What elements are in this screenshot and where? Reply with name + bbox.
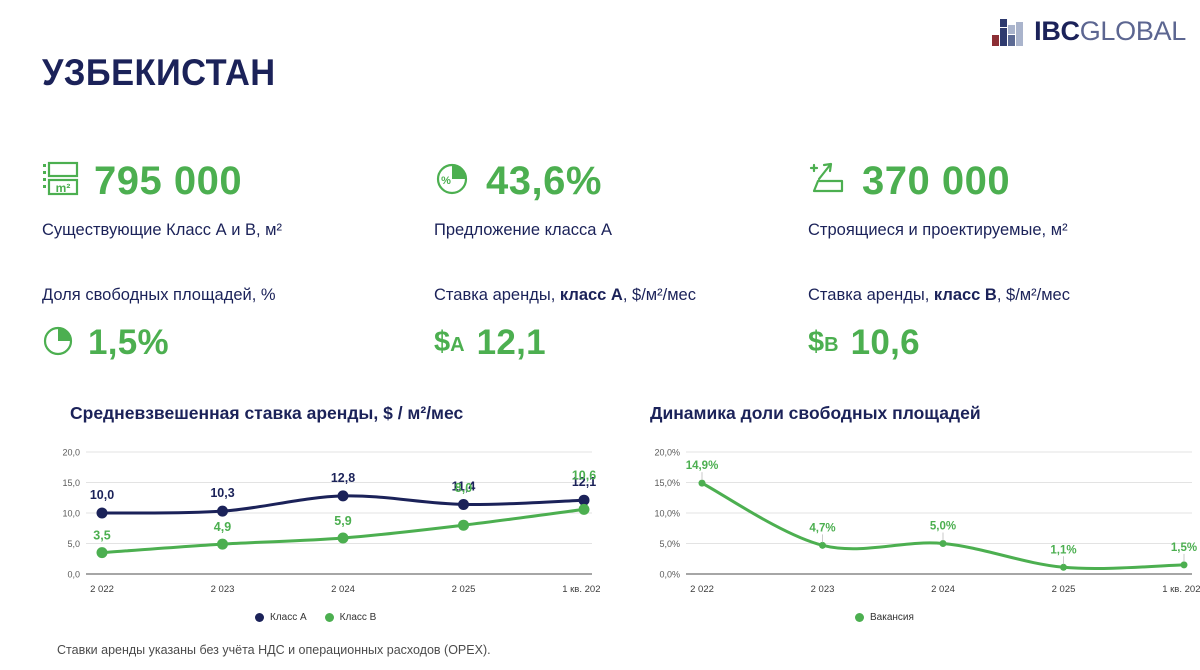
x-axis-tick: 2 022 bbox=[90, 584, 114, 595]
construction-growth-icon bbox=[808, 159, 848, 204]
kpi-label: Предложение класса А bbox=[434, 219, 764, 241]
rent-rate-chart: 0,05,010,015,020,02 0222 0232 0242 0251 … bbox=[40, 440, 600, 610]
x-axis-tick: 2 025 bbox=[452, 584, 476, 595]
y-axis-tick: 15,0% bbox=[654, 478, 680, 488]
data-point-label: 5,9 bbox=[334, 514, 351, 528]
data-point-label: 14,9% bbox=[686, 460, 719, 472]
x-axis-tick: 2 025 bbox=[1052, 584, 1076, 595]
rent-rate-chart-legend: Класс АКласс В bbox=[255, 612, 376, 623]
y-axis-tick: 5,0% bbox=[659, 539, 680, 549]
dollar-a-icon: $A bbox=[434, 328, 465, 357]
data-point-label: 5,0% bbox=[930, 521, 956, 533]
kpi-label: Строящиеся и проектируемые, м² bbox=[808, 219, 1138, 241]
kpi-class-a-supply: % 43,6% Предложение класса А bbox=[434, 155, 804, 241]
kpi-label-bold: класс А bbox=[560, 286, 623, 304]
data-point-label: 10,3 bbox=[210, 486, 234, 500]
x-axis-tick: 1 кв. 2026 bbox=[562, 584, 600, 595]
dollar-b-icon: $B bbox=[808, 328, 839, 357]
kpi-value: 12,1 bbox=[477, 325, 546, 360]
kpi-label: Ставка аренды, класс В, $/м²/мес bbox=[808, 285, 1198, 306]
data-point-label: 1,5% bbox=[1171, 542, 1197, 554]
currency-class: A bbox=[450, 335, 464, 355]
data-point-label: 1,1% bbox=[1050, 544, 1076, 556]
kpi-value: 43,6% bbox=[486, 161, 602, 201]
vacancy-chart: 0,0%5,0%10,0%15,0%20,0%2 0222 0232 0242 … bbox=[640, 440, 1200, 610]
kpi-label-pre: Ставка аренды, bbox=[434, 286, 560, 304]
kpi-under-construction: 370 000 Строящиеся и проектируемые, м² bbox=[808, 155, 1198, 241]
x-axis-tick: 2 024 bbox=[931, 584, 955, 595]
kpi-rent-class-a: Ставка аренды, класс А, $/м²/мес $A 12,1 bbox=[434, 285, 804, 364]
vacancy-chart-legend: Вакансия bbox=[855, 612, 914, 623]
y-axis-tick: 0,0% bbox=[659, 570, 680, 580]
y-axis-tick: 10,0 bbox=[62, 509, 80, 519]
kpi-label: Существующие Класс А и В, м² bbox=[42, 219, 372, 241]
data-point-label: 4,7% bbox=[809, 522, 835, 534]
legend-label: Вакансия bbox=[870, 612, 914, 623]
x-axis-tick: 2 023 bbox=[211, 584, 235, 595]
kpi-value: 370 000 bbox=[862, 161, 1010, 201]
footnote: Ставки аренды указаны без учёта НДС и оп… bbox=[57, 643, 491, 657]
y-axis-tick: 10,0% bbox=[654, 509, 680, 519]
kpi-value: 795 000 bbox=[94, 161, 242, 201]
legend-item[interactable]: Класс В bbox=[325, 612, 377, 623]
kpi-label-bold: класс В bbox=[934, 286, 997, 304]
currency-symbol: $ bbox=[808, 328, 824, 357]
kpi-label: Ставка аренды, класс А, $/м²/мес bbox=[434, 285, 804, 306]
x-axis-tick: 2 024 bbox=[331, 584, 355, 595]
kpi-vacancy-share: Доля свободных площадей, % 1,5% bbox=[42, 285, 412, 364]
legend-item[interactable]: Класс А bbox=[255, 612, 307, 623]
data-point-label: 8,0 bbox=[455, 481, 472, 495]
logo-text-global: GLOBAL bbox=[1080, 16, 1186, 46]
logo-bars-icon bbox=[992, 16, 1026, 46]
data-point-label: 3,5 bbox=[93, 529, 110, 543]
rent-rate-chart-title: Средневзвешенная ставка аренды, $ / м²/м… bbox=[70, 403, 463, 424]
currency-symbol: $ bbox=[434, 328, 450, 357]
kpi-existing-stock: m² 795 000 Существующие Класс А и В, м² bbox=[42, 155, 412, 241]
data-point-label: 12,8 bbox=[331, 471, 355, 485]
x-axis-tick: 2 022 bbox=[690, 584, 714, 595]
legend-item[interactable]: Вакансия bbox=[855, 612, 914, 623]
y-axis-tick: 20,0% bbox=[654, 448, 680, 458]
pie-icon bbox=[42, 322, 76, 363]
y-axis-tick: 20,0 bbox=[62, 448, 80, 458]
page-title: УЗБЕКИСТАН bbox=[42, 52, 276, 94]
svg-text:%: % bbox=[441, 175, 451, 187]
data-point-label: 4,9 bbox=[214, 520, 231, 534]
kpi-label-pre: Ставка аренды, bbox=[808, 286, 934, 304]
legend-color-swatch bbox=[325, 613, 334, 622]
kpi-rent-class-b: Ставка аренды, класс В, $/м²/мес $B 10,6 bbox=[808, 285, 1198, 364]
ibc-global-logo: IBCGLOBAL bbox=[992, 16, 1186, 46]
slide-root: IBCGLOBAL УЗБЕКИСТАН m² 795 bbox=[0, 0, 1200, 670]
logo-text-ibc: IBC bbox=[1034, 16, 1080, 46]
vacancy-chart-title: Динамика доли свободных площадей bbox=[650, 403, 981, 424]
kpi-value: 1,5% bbox=[88, 325, 169, 360]
y-axis-tick: 15,0 bbox=[62, 478, 80, 488]
x-axis-tick: 2 023 bbox=[811, 584, 835, 595]
data-point-label: 10,0 bbox=[90, 488, 114, 502]
currency-class: B bbox=[824, 335, 838, 355]
x-axis-tick: 1 кв. 2026 bbox=[1162, 584, 1200, 595]
area-m2-icon: m² bbox=[42, 159, 80, 204]
kpi-label-post: , $/м²/мес bbox=[623, 286, 696, 304]
data-point-label: 10,6 bbox=[572, 468, 596, 482]
kpi-label: Доля свободных площадей, % bbox=[42, 285, 412, 306]
legend-label: Класс В bbox=[340, 612, 377, 623]
svg-text:m²: m² bbox=[56, 181, 71, 195]
legend-color-swatch bbox=[255, 613, 264, 622]
legend-color-swatch bbox=[855, 613, 864, 622]
legend-label: Класс А bbox=[270, 612, 307, 623]
kpi-label-post: , $/м²/мес bbox=[997, 286, 1070, 304]
pie-percent-icon: % bbox=[434, 159, 472, 204]
kpi-value: 10,6 bbox=[851, 325, 920, 360]
y-axis-tick: 5,0 bbox=[67, 539, 80, 549]
y-axis-tick: 0,0 bbox=[67, 570, 80, 580]
